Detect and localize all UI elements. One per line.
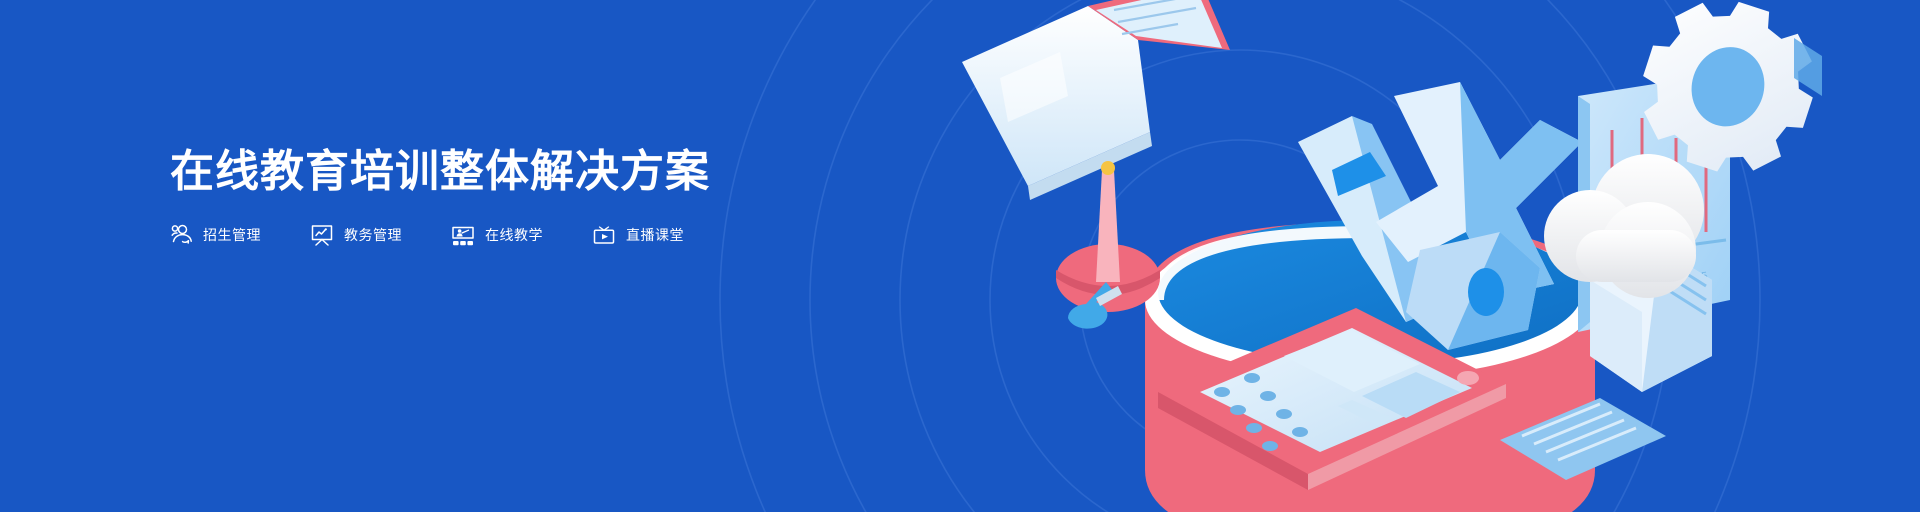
- push-pin-icon: [1056, 161, 1160, 329]
- feature-item-live-classroom[interactable]: 直播课堂: [591, 222, 684, 248]
- page-title: 在线教育培训整体解决方案: [170, 144, 710, 199]
- tv-play-icon: [591, 222, 617, 248]
- banner-content: 在线教育培训整体解决方案 招生管理: [0, 0, 900, 512]
- feature-label: 招生管理: [203, 225, 261, 245]
- open-book: [962, 0, 1230, 200]
- feature-list: 招生管理 教务管理: [168, 222, 732, 248]
- feature-item-enrollment[interactable]: 招生管理: [168, 222, 261, 248]
- users-icon: [168, 222, 194, 248]
- feature-label: 教务管理: [344, 225, 402, 245]
- classroom-teacher-icon: [450, 222, 476, 248]
- education-hero-banner: 1 2 3 4 5: [0, 0, 1920, 512]
- feature-item-online-teaching[interactable]: 在线教学: [450, 222, 543, 248]
- feature-label: 在线教学: [485, 225, 543, 245]
- presentation-chart-icon: [309, 222, 335, 248]
- feature-item-academic-affairs[interactable]: 教务管理: [309, 222, 402, 248]
- feature-label: 直播课堂: [626, 225, 684, 245]
- illustration: 1 2 3 4 5: [900, 0, 1920, 512]
